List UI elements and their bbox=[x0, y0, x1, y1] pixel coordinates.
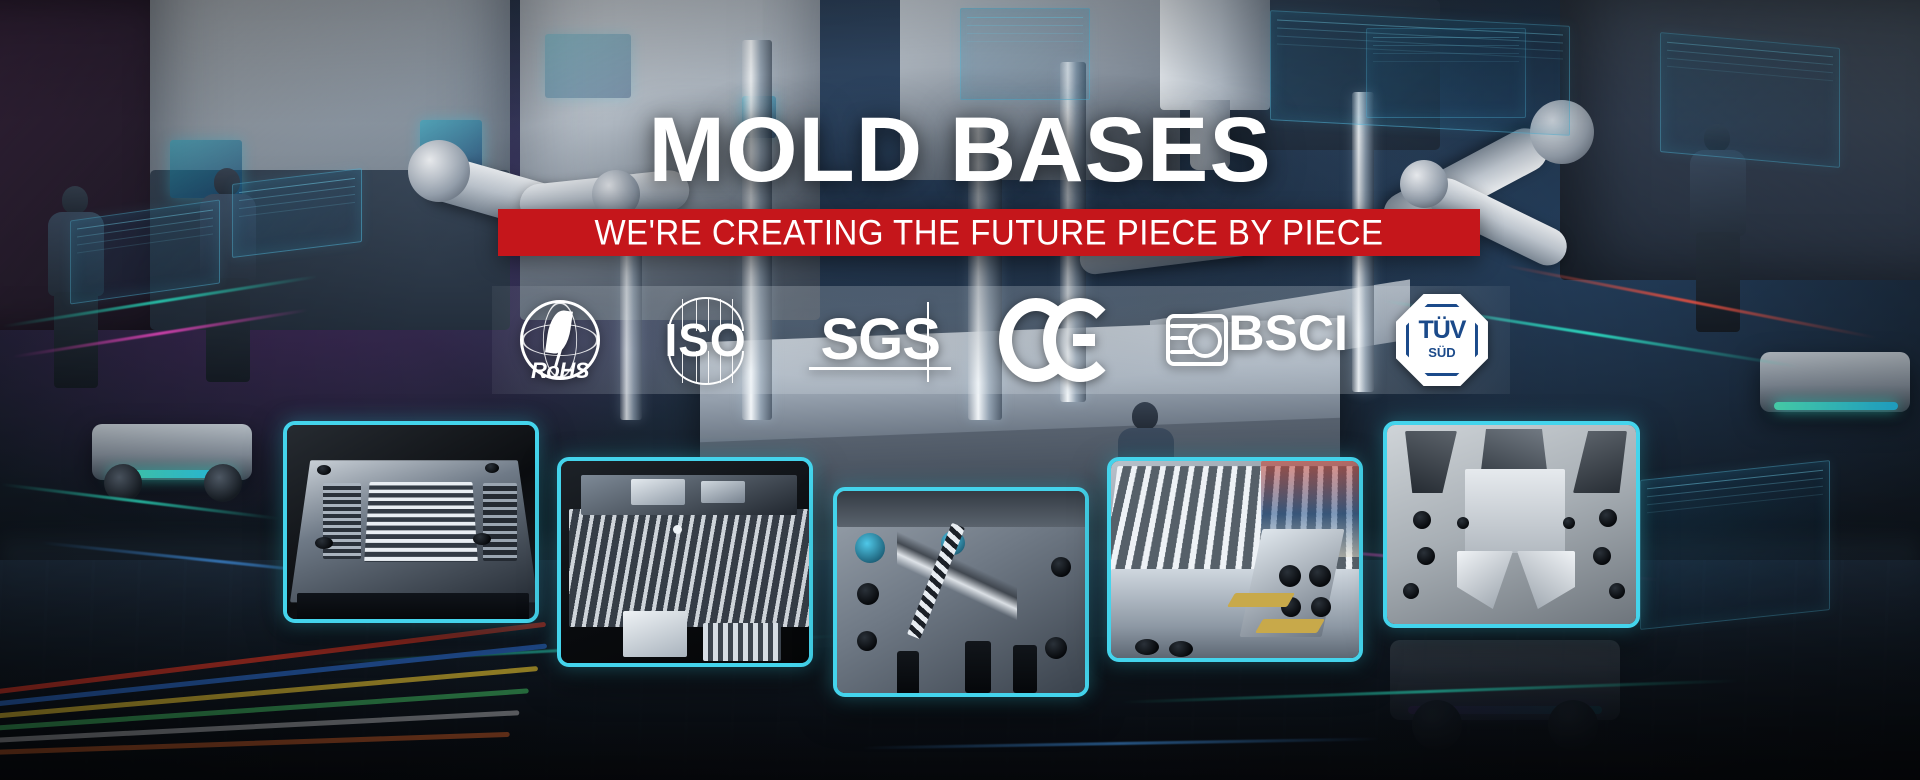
product-image-2 bbox=[561, 461, 809, 663]
product-image-4 bbox=[1111, 461, 1359, 658]
banner-content: MOLD BASES WE'RE CREATING THE FUTURE PIE… bbox=[0, 0, 1920, 780]
product-image-1 bbox=[287, 425, 535, 619]
product-image-5 bbox=[1387, 425, 1636, 624]
product-card-gallery bbox=[0, 0, 1920, 780]
product-card-2[interactable] bbox=[557, 457, 813, 667]
product-image-3 bbox=[837, 491, 1085, 693]
hero-banner: MOLD BASES WE'RE CREATING THE FUTURE PIE… bbox=[0, 0, 1920, 780]
product-card-3[interactable] bbox=[833, 487, 1089, 697]
product-card-1[interactable] bbox=[283, 421, 539, 623]
product-card-4[interactable] bbox=[1107, 457, 1363, 662]
product-card-5[interactable] bbox=[1383, 421, 1640, 628]
